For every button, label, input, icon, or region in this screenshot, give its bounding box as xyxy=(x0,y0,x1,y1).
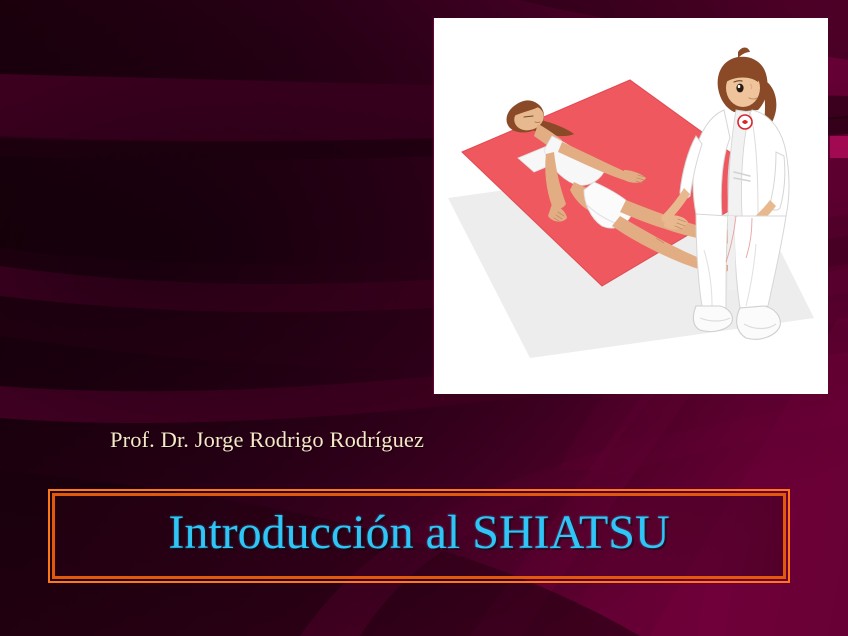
slide-title: Introducción al SHIATSU xyxy=(168,505,669,561)
title-slide: Prof. Dr. Jorge Rodrigo Rodríguez Introd… xyxy=(0,0,848,636)
title-box-inner-border: Introducción al SHIATSU xyxy=(52,493,786,579)
shiatsu-illustration xyxy=(434,18,828,394)
title-box: Introducción al SHIATSU xyxy=(48,489,790,583)
presenter-subtitle: Prof. Dr. Jorge Rodrigo Rodríguez xyxy=(110,425,750,455)
right-edge-accent-chip xyxy=(830,136,848,158)
